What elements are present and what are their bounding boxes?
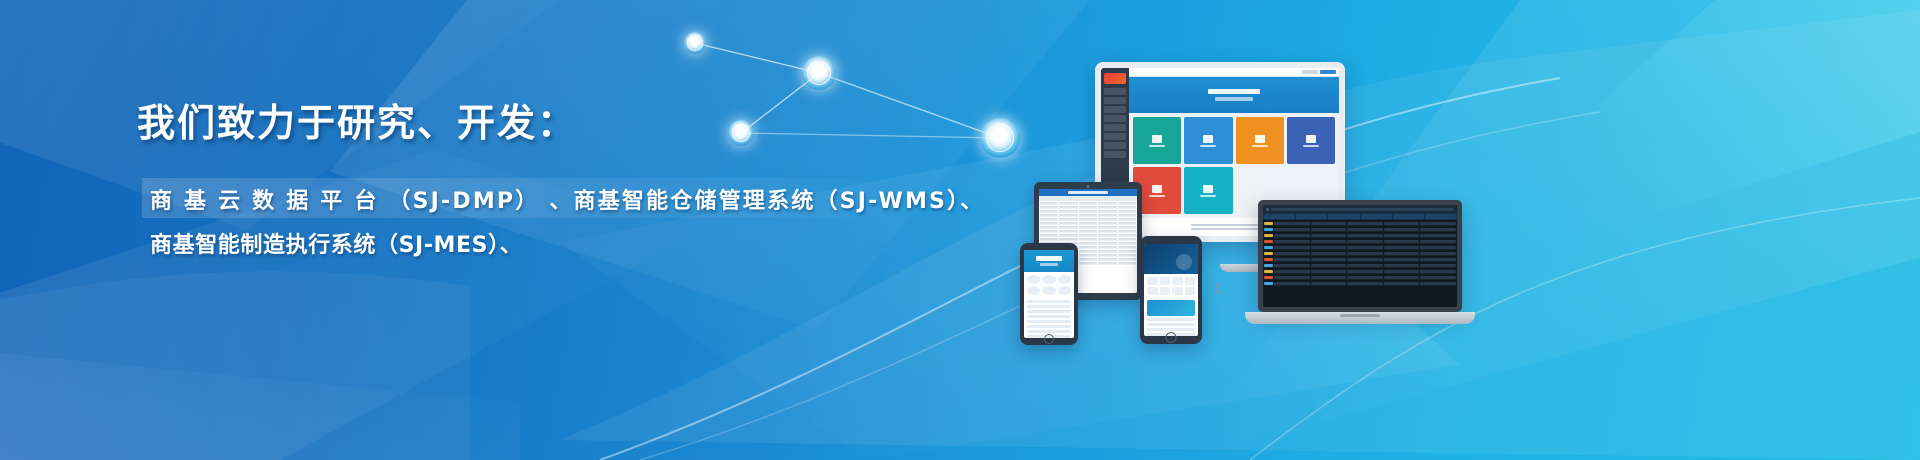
tile-label bbox=[1149, 195, 1165, 197]
window-dot-icon bbox=[1266, 208, 1269, 211]
sidebar-item-7[interactable] bbox=[1104, 151, 1126, 158]
body-text-block: 商 基 云 数 据 平 台 （SJ-DMP） 、商基智能仓储管理系统（SJ-WM… bbox=[150, 180, 985, 268]
bigdata-subtitle-bar bbox=[1040, 263, 1058, 266]
hero-title-bar bbox=[1208, 89, 1260, 94]
app-icon[interactable] bbox=[1058, 275, 1071, 284]
home-button-icon[interactable] bbox=[1044, 334, 1054, 344]
table-row[interactable] bbox=[1263, 280, 1457, 286]
app-icon[interactable] bbox=[1147, 287, 1158, 295]
app-icon[interactable] bbox=[1172, 277, 1183, 285]
search-icon[interactable] bbox=[1302, 70, 1318, 74]
sidebar-item-3[interactable] bbox=[1104, 115, 1126, 122]
tile-data-report[interactable] bbox=[1184, 117, 1232, 164]
laptop-titlebar bbox=[1263, 205, 1457, 213]
app-icon[interactable] bbox=[1147, 277, 1158, 285]
edit-icon bbox=[1203, 185, 1213, 193]
tile-online-consult[interactable] bbox=[1184, 167, 1232, 214]
laptop-base bbox=[1245, 312, 1475, 324]
monitor-topbar bbox=[1129, 68, 1339, 77]
list-item[interactable] bbox=[1147, 318, 1195, 321]
user-icon bbox=[1306, 135, 1316, 143]
tile-smart-warehouse[interactable] bbox=[1236, 117, 1284, 164]
list-item[interactable] bbox=[1027, 320, 1071, 323]
list-item[interactable] bbox=[1027, 325, 1071, 328]
list-item[interactable] bbox=[1027, 330, 1071, 333]
list-item[interactable] bbox=[1027, 315, 1071, 318]
home-button-icon[interactable] bbox=[1166, 332, 1177, 343]
app-icon[interactable] bbox=[1042, 275, 1055, 284]
list-item[interactable] bbox=[1147, 323, 1195, 326]
app-icon[interactable] bbox=[1185, 287, 1196, 295]
camera-icon bbox=[1087, 185, 1090, 188]
mail-icon bbox=[1152, 185, 1162, 193]
list-item[interactable] bbox=[1027, 300, 1071, 303]
laptop-table-header bbox=[1263, 213, 1457, 220]
sidebar-item-2[interactable] bbox=[1104, 106, 1126, 113]
list-item[interactable] bbox=[1027, 310, 1071, 313]
page-title: 我们致力于研究、开发： bbox=[137, 92, 577, 147]
tile-label bbox=[1200, 195, 1216, 197]
promo-card[interactable] bbox=[1147, 300, 1195, 316]
phone-right-device bbox=[1140, 236, 1202, 344]
tile-enterprise-service[interactable] bbox=[1133, 117, 1181, 164]
account-chip[interactable] bbox=[1320, 70, 1336, 74]
tile-label bbox=[1200, 145, 1216, 147]
sidebar-item-1[interactable] bbox=[1104, 97, 1126, 104]
device-mockups:  bbox=[1000, 0, 1560, 460]
phone-left-screen bbox=[1024, 250, 1074, 338]
phone-right-icon-grid bbox=[1144, 274, 1198, 298]
app-icon[interactable] bbox=[1027, 275, 1040, 284]
tablet-titlebar bbox=[1039, 189, 1137, 196]
bigdata-title-bar bbox=[1036, 256, 1062, 261]
shangji-logo-icon bbox=[1104, 73, 1126, 84]
list-item[interactable] bbox=[1027, 305, 1071, 308]
banner-copy: 我们致力于研究、开发： 商 基 云 数 据 平 台 （SJ-DMP） 、商基智能… bbox=[0, 0, 960, 460]
sidebar-item-0[interactable] bbox=[1104, 88, 1126, 95]
box-icon bbox=[1255, 135, 1265, 143]
app-icon[interactable] bbox=[1172, 287, 1183, 295]
phone-left-header bbox=[1024, 250, 1074, 272]
hero-banner: 我们致力于研究、开发： 商 基 云 数 据 平 台 （SJ-DMP） 、商基智能… bbox=[0, 0, 1920, 460]
list-item[interactable] bbox=[1147, 328, 1195, 331]
body-line-1: 商 基 云 数 据 平 台 （SJ-DMP） 、商基智能仓储管理系统（SJ-WM… bbox=[150, 180, 985, 224]
tile-user-center[interactable] bbox=[1287, 117, 1335, 164]
app-icon[interactable] bbox=[1160, 277, 1171, 285]
phone-left-device bbox=[1020, 243, 1078, 345]
laptop-screen bbox=[1263, 205, 1457, 307]
phone-right-banner bbox=[1144, 244, 1198, 274]
app-icon[interactable] bbox=[1058, 286, 1071, 295]
sidebar-item-4[interactable] bbox=[1104, 124, 1126, 131]
app-icon[interactable] bbox=[1042, 286, 1055, 295]
tile-label bbox=[1252, 145, 1268, 147]
app-icon[interactable] bbox=[1160, 287, 1171, 295]
tile-label bbox=[1149, 145, 1165, 147]
phone-right-screen bbox=[1144, 244, 1198, 336]
phone-left-icon-grid bbox=[1024, 272, 1074, 298]
app-icon[interactable] bbox=[1027, 286, 1040, 295]
laptop-lid bbox=[1258, 200, 1462, 312]
laptop-device bbox=[1258, 200, 1462, 328]
window-title-bar bbox=[1271, 208, 1454, 211]
hero-subtitle-bar bbox=[1215, 97, 1253, 101]
apple-logo-icon:  bbox=[1216, 284, 1225, 294]
phone-left-list bbox=[1024, 300, 1074, 338]
sidebar-item-5[interactable] bbox=[1104, 133, 1126, 140]
chart-icon bbox=[1203, 135, 1213, 143]
tile-label bbox=[1303, 145, 1319, 147]
app-icon[interactable] bbox=[1185, 277, 1196, 285]
monitor-icon bbox=[1152, 135, 1162, 143]
monitor-hero bbox=[1129, 77, 1339, 113]
sidebar-item-6[interactable] bbox=[1104, 142, 1126, 149]
body-line-2: 商基智能制造执行系统（SJ-MES）、 bbox=[150, 224, 985, 268]
